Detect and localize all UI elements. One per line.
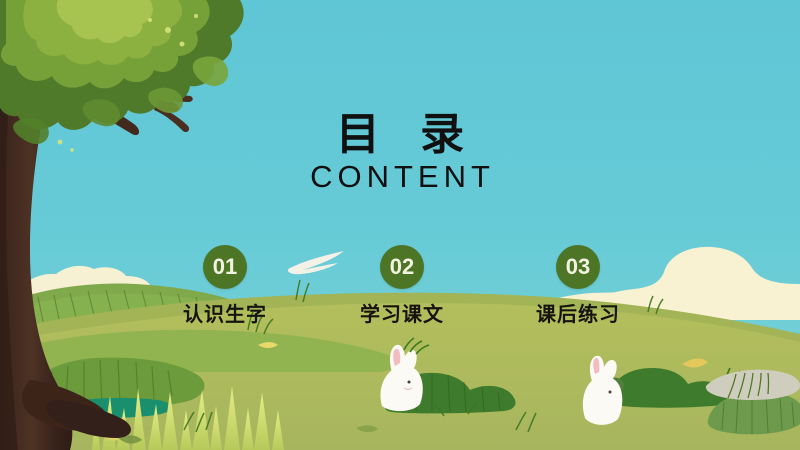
content-item-01-badge[interactable]: 01 bbox=[203, 245, 247, 289]
content-item-01-label: 认识生字 bbox=[145, 298, 305, 327]
content-item-02-label: 学习课文 bbox=[322, 298, 482, 327]
content-item-03-number: 03 bbox=[566, 256, 590, 278]
content-item-02[interactable]: 02 学习课文 bbox=[322, 245, 482, 327]
content-item-02-number: 02 bbox=[390, 256, 414, 278]
title-block: 目 录 CONTENT bbox=[0, 112, 800, 194]
page-title-en: CONTENT bbox=[0, 160, 800, 194]
content-item-03-badge[interactable]: 03 bbox=[556, 245, 600, 289]
page-title-cn: 目 录 bbox=[0, 112, 800, 158]
content-item-03[interactable]: 03 课后练习 bbox=[498, 245, 658, 327]
scene-illustration bbox=[0, 0, 800, 450]
content-item-03-label: 课后练习 bbox=[498, 298, 658, 327]
content-item-01-number: 01 bbox=[213, 256, 237, 278]
content-item-01[interactable]: 01 认识生字 bbox=[145, 245, 305, 327]
slide-canvas: 目 录 CONTENT 01 认识生字 02 学习课文 03 课后练习 bbox=[0, 0, 800, 450]
content-item-02-badge[interactable]: 02 bbox=[380, 245, 424, 289]
